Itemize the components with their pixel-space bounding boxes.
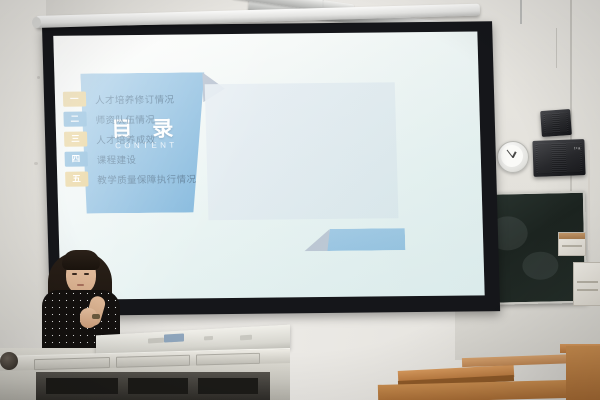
presenter-eye-left	[72, 273, 77, 275]
agenda-label-3: 人才培养成效	[96, 132, 156, 147]
console-rail-plate-left	[34, 357, 110, 370]
wall-seam-corner	[556, 28, 557, 68]
wall-panel-line-2	[577, 289, 598, 291]
agenda-badge-2: 二	[63, 112, 86, 127]
light-rod-right	[520, 0, 522, 24]
agenda-badge-5: 五	[65, 172, 88, 187]
console-button-d[interactable]	[240, 335, 252, 341]
microphone[interactable]	[0, 352, 18, 370]
wall-box-lid	[559, 233, 585, 239]
slide-bottom-accent	[327, 228, 406, 251]
chalk-smudge-b	[522, 251, 559, 280]
console-rail-plate-far	[196, 353, 260, 366]
wall-box-line-1	[562, 245, 582, 247]
agenda-badge-4: 四	[65, 152, 88, 167]
console-button-a[interactable]	[148, 338, 164, 344]
wall-electrical-panel	[573, 262, 600, 306]
equipment-slot-1	[46, 378, 118, 394]
agenda-label-2: 师资队伍情况	[95, 112, 155, 127]
speaker-grille-small	[543, 112, 568, 134]
wall-junction-box-upper	[558, 232, 586, 256]
wall-clock	[497, 141, 529, 173]
agenda-label-1: 人才培养修订情况	[95, 92, 175, 107]
slide-agenda-plate	[205, 82, 399, 220]
presenter-eye-right	[84, 273, 89, 275]
speaker-brand-label: t+a	[574, 145, 581, 150]
agenda-label-5: 教学质量保障执行情况	[97, 171, 196, 186]
student-desk-right	[566, 346, 600, 400]
console-button-c[interactable]	[204, 336, 213, 341]
wall-panel-line-1	[577, 281, 598, 283]
wall-speaker-small	[540, 109, 572, 137]
agenda-badge-3: 三	[64, 132, 87, 147]
classroom-scene: 目 录 CONTENT 一 人才培养修订情况 二 师资队伍情况 三 人才培养成效…	[0, 0, 600, 400]
presenter-watch	[92, 314, 100, 319]
slide-bottom-wedge	[304, 229, 331, 251]
console-equipment-bay	[36, 372, 270, 400]
wall-scuff-a	[37, 76, 40, 79]
presenter-fringe	[62, 250, 100, 270]
wall-speaker-large: t+a	[532, 139, 585, 177]
equipment-slot-2	[128, 378, 188, 394]
clock-center-pin	[512, 156, 514, 158]
presenter-mouth	[77, 284, 84, 286]
wall-conduit	[588, 150, 590, 250]
agenda-label-4: 课程建设	[97, 152, 137, 166]
console-display[interactable]	[164, 333, 184, 342]
equipment-slot-3	[198, 378, 258, 394]
console-rail-plate-right	[116, 355, 190, 368]
wall-scuff-b	[34, 162, 38, 165]
agenda-badge-1: 一	[63, 92, 86, 107]
